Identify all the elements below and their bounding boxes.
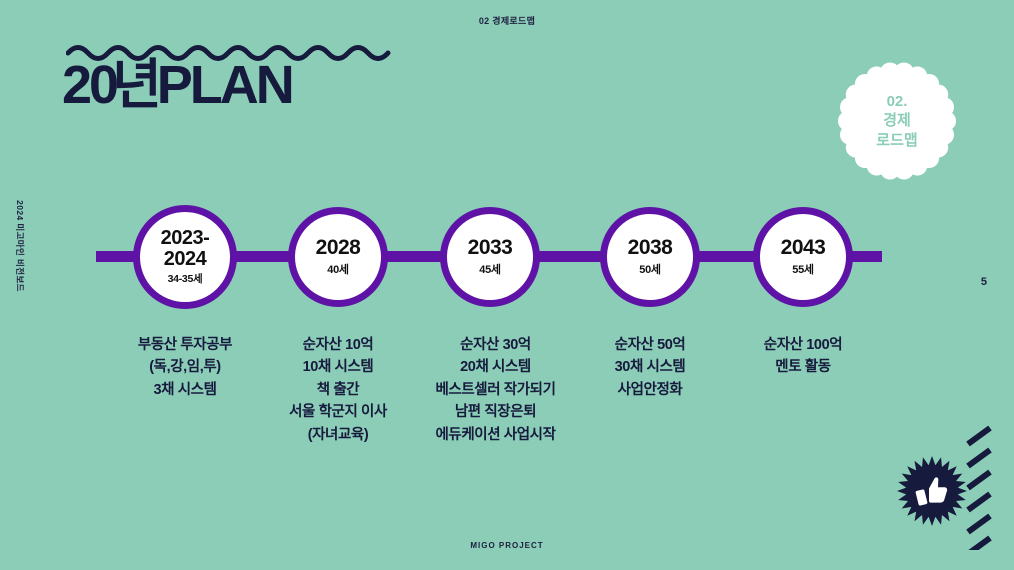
timeline-node-year: 2023- 2024 [161, 228, 210, 269]
timeline-column-line: 에듀케이션 사업시작 [398, 424, 593, 446]
timeline-node-2038[interactable]: 2038 50세 [600, 207, 700, 307]
thumbs-up-starburst-badge [896, 455, 968, 527]
timeline: 2023- 2024 34-35세 2028 40세 2033 45세 2038… [0, 0, 1014, 570]
timeline-node-age: 40세 [327, 261, 348, 277]
timeline-node-age: 45세 [479, 261, 500, 277]
timeline-column-line: 순자산 100억 [713, 334, 893, 356]
timeline-column-line: 멘토 활동 [713, 356, 893, 378]
timeline-node-age: 34-35세 [168, 271, 203, 286]
timeline-node-age: 50세 [639, 261, 660, 277]
timeline-node-year: 2038 [628, 237, 673, 258]
timeline-node-year-line-1: 2023- [161, 228, 210, 248]
timeline-column-5: 순자산 100억멘토 활동 [713, 334, 893, 379]
timeline-node-2033[interactable]: 2033 45세 [440, 207, 540, 307]
slide-footer: MIGO PROJECT [0, 541, 1014, 550]
timeline-node-year: 2028 [316, 237, 361, 258]
timeline-column-line: 사업안정화 [560, 379, 740, 401]
timeline-node-2023-2024[interactable]: 2023- 2024 34-35세 [133, 205, 237, 309]
timeline-node-2043[interactable]: 2043 55세 [753, 207, 853, 307]
timeline-node-age: 55세 [792, 261, 813, 277]
timeline-node-year-line-2: 2024 [161, 249, 210, 269]
timeline-node-year: 2043 [781, 237, 826, 258]
timeline-node-2028[interactable]: 2028 40세 [288, 207, 388, 307]
diagonal-dashes-decoration [960, 420, 1014, 550]
timeline-node-year: 2033 [468, 237, 513, 258]
timeline-column-line: 남편 직장은퇴 [398, 401, 593, 423]
